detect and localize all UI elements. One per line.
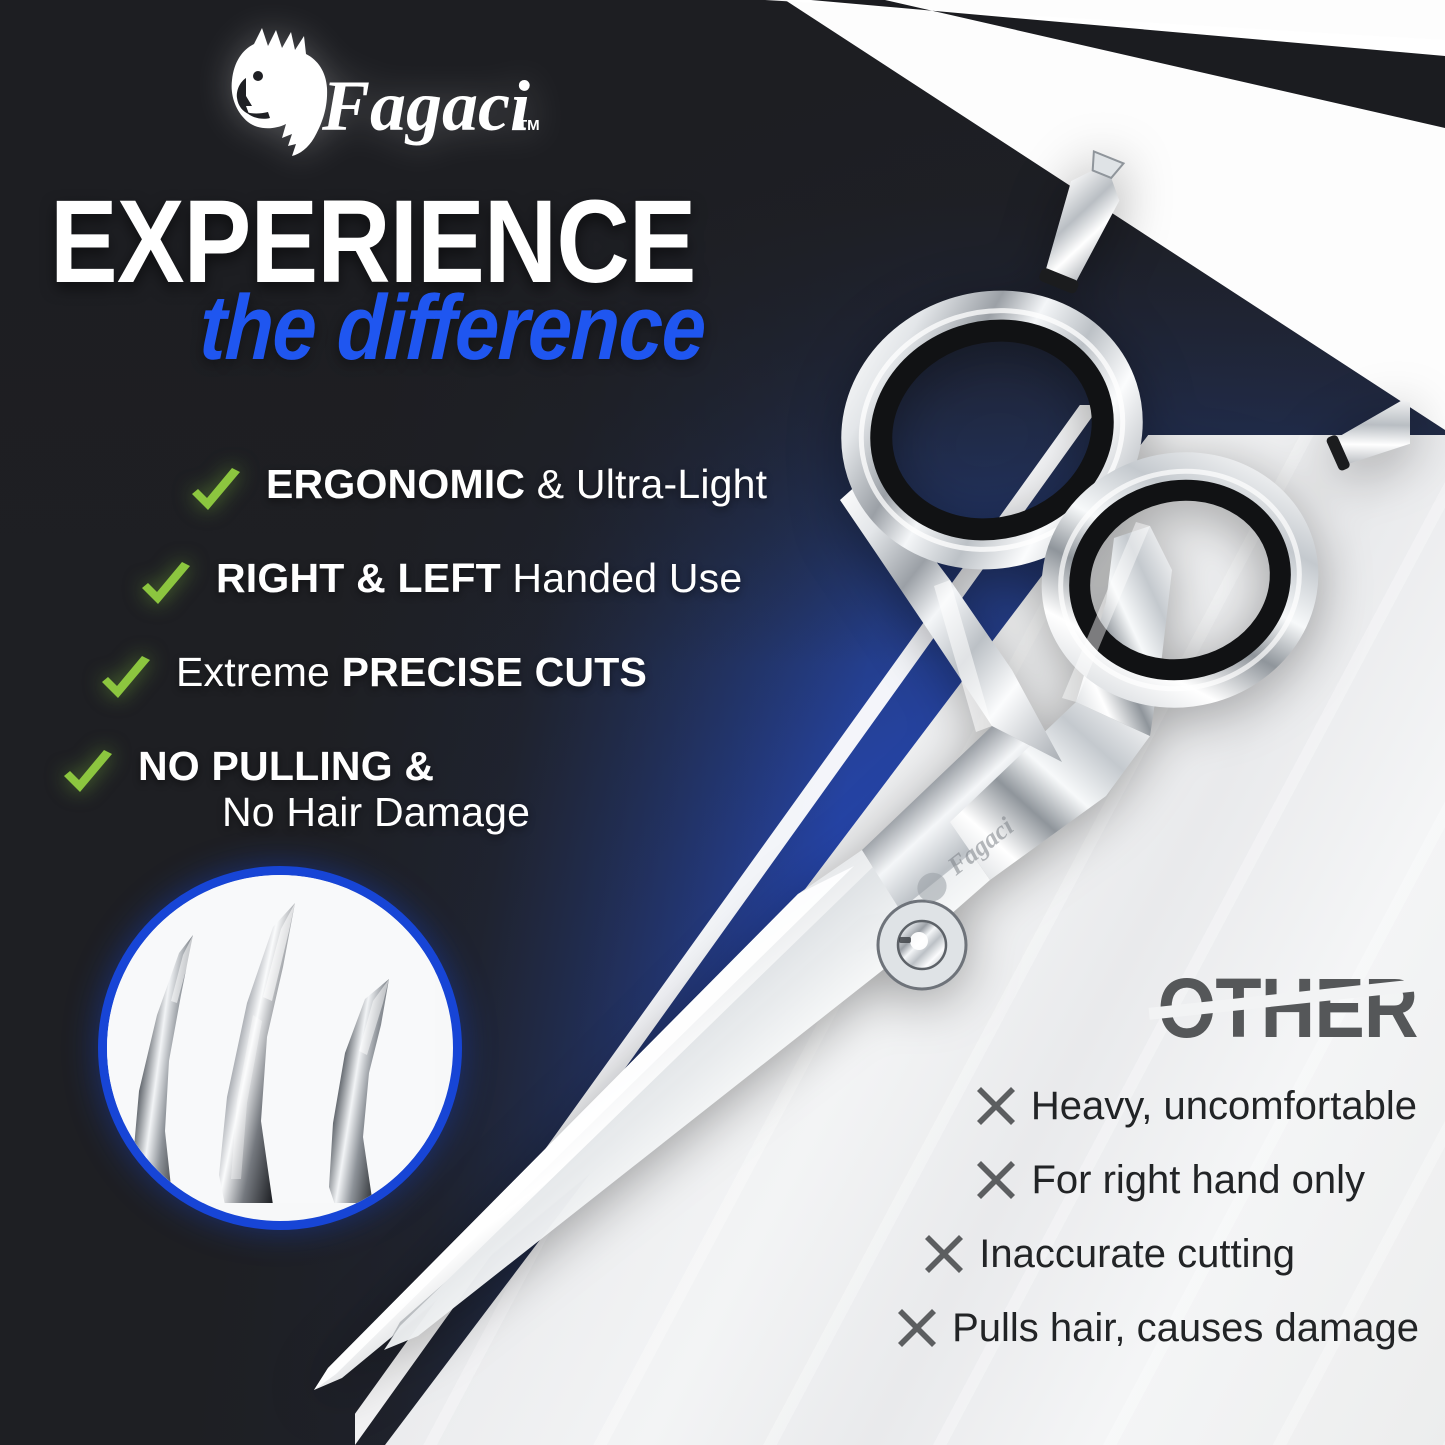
brand-logo: Fagaci TM	[196, 26, 546, 166]
benefit-rest: Extreme	[176, 649, 342, 695]
x-icon	[975, 1085, 1017, 1127]
benefit-text: Extreme PRECISE CUTS	[176, 650, 647, 696]
benefit-strong: ERGONOMIC	[266, 461, 525, 507]
comparison-item: For right hand only	[723, 1158, 1423, 1202]
comparison-text: Heavy, uncomfortable	[1031, 1084, 1417, 1128]
comparison-item: Heavy, uncomfortable	[723, 1084, 1423, 1128]
comparison-item: Pulls hair, causes damage	[723, 1306, 1423, 1350]
x-icon	[975, 1159, 1017, 1201]
comparison-section: OTHER Heavy, uncomfortable For right	[723, 966, 1423, 1380]
x-icon	[923, 1233, 965, 1275]
benefit-rest: Handed Use	[501, 555, 743, 601]
benefit-text: NO PULLING &No Hair Damage	[138, 744, 530, 836]
product-infographic: Fagaci	[0, 0, 1445, 1445]
comparison-title-wrap: OTHER	[1158, 966, 1424, 1050]
comparison-text: Inaccurate cutting	[979, 1232, 1295, 1276]
check-icon	[60, 748, 116, 804]
benefit-strong: PRECISE CUTS	[342, 649, 647, 695]
headline-line2: the difference	[198, 282, 830, 374]
comparison-text: Pulls hair, causes damage	[952, 1306, 1419, 1350]
benefit-strong: RIGHT & LEFT	[216, 555, 501, 601]
brand-trademark: TM	[518, 117, 540, 134]
comparison-title: OTHER	[1158, 961, 1418, 1055]
check-icon	[138, 560, 194, 616]
brand-wordmark: Fagaci	[321, 66, 530, 146]
mohawk-head-profile-icon	[232, 28, 327, 156]
check-icon	[188, 466, 244, 522]
check-icon	[98, 654, 154, 710]
comparison-item: Inaccurate cutting	[723, 1232, 1423, 1276]
benefits-list: ERGONOMIC & Ultra-Light RIGHT & LEFT Han…	[60, 462, 900, 870]
x-icon	[896, 1307, 938, 1349]
benefit-subtext: No Hair Damage	[138, 790, 530, 836]
headline: EXPERIENCE the difference	[50, 186, 930, 374]
comparison-list: Heavy, uncomfortable For right hand only…	[723, 1084, 1423, 1350]
benefit-text: RIGHT & LEFT Handed Use	[216, 556, 742, 602]
comparison-text: For right hand only	[1031, 1158, 1365, 1202]
benefit-item: NO PULLING &No Hair Damage	[60, 744, 900, 836]
blade-tips-closeup-icon	[98, 866, 462, 1230]
benefit-rest: & Ultra-Light	[525, 461, 767, 507]
benefit-strong: NO PULLING &	[138, 743, 434, 789]
benefit-item: Extreme PRECISE CUTS	[98, 650, 900, 710]
benefit-item: ERGONOMIC & Ultra-Light	[188, 462, 900, 522]
benefit-text: ERGONOMIC & Ultra-Light	[266, 462, 767, 508]
benefit-item: RIGHT & LEFT Handed Use	[138, 556, 900, 616]
